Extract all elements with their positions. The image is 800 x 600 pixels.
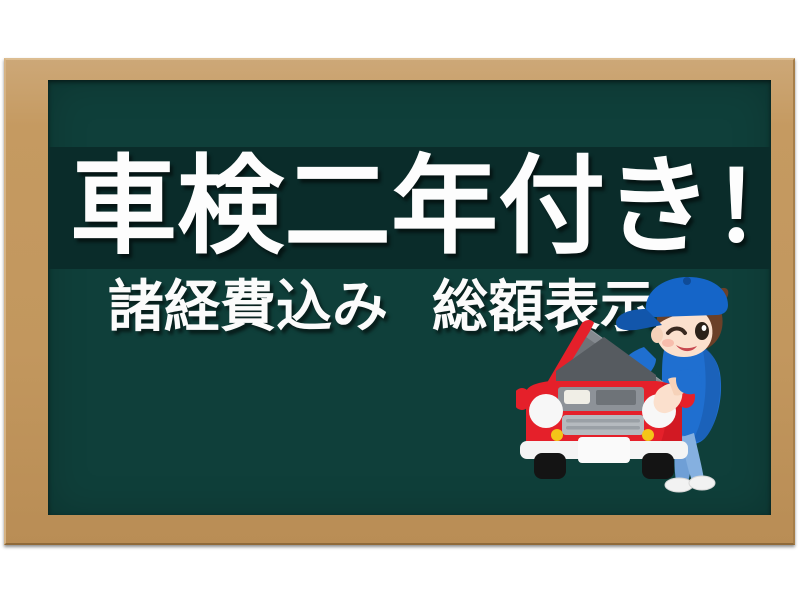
headline-text: 車 検 二 年 付 き ！	[60, 142, 771, 272]
mechanic-head-group	[616, 277, 728, 357]
headline-char-7: ！	[712, 159, 771, 256]
headline-char-1: 車	[70, 154, 177, 261]
poster-canvas: 車 検 二 年 付 き ！ 諸経費込み 総額表示	[0, 0, 800, 600]
headline-char-4: 年	[391, 154, 498, 261]
chalkboard-surface: 車 検 二 年 付 き ！ 諸経費込み 総額表示	[48, 80, 771, 515]
headline-char-2: 検	[177, 154, 284, 261]
headline-char-6: き	[605, 154, 712, 261]
chalkboard-wooden-frame: 車 検 二 年 付 き ！ 諸経費込み 総額表示	[4, 58, 795, 545]
headline-char-3: 二	[284, 154, 391, 261]
subline-segment-fees-included: 諸経費込み	[108, 280, 388, 336]
mechanic-with-red-car-illustration	[516, 275, 766, 505]
headline-char-5: 付	[498, 154, 605, 261]
